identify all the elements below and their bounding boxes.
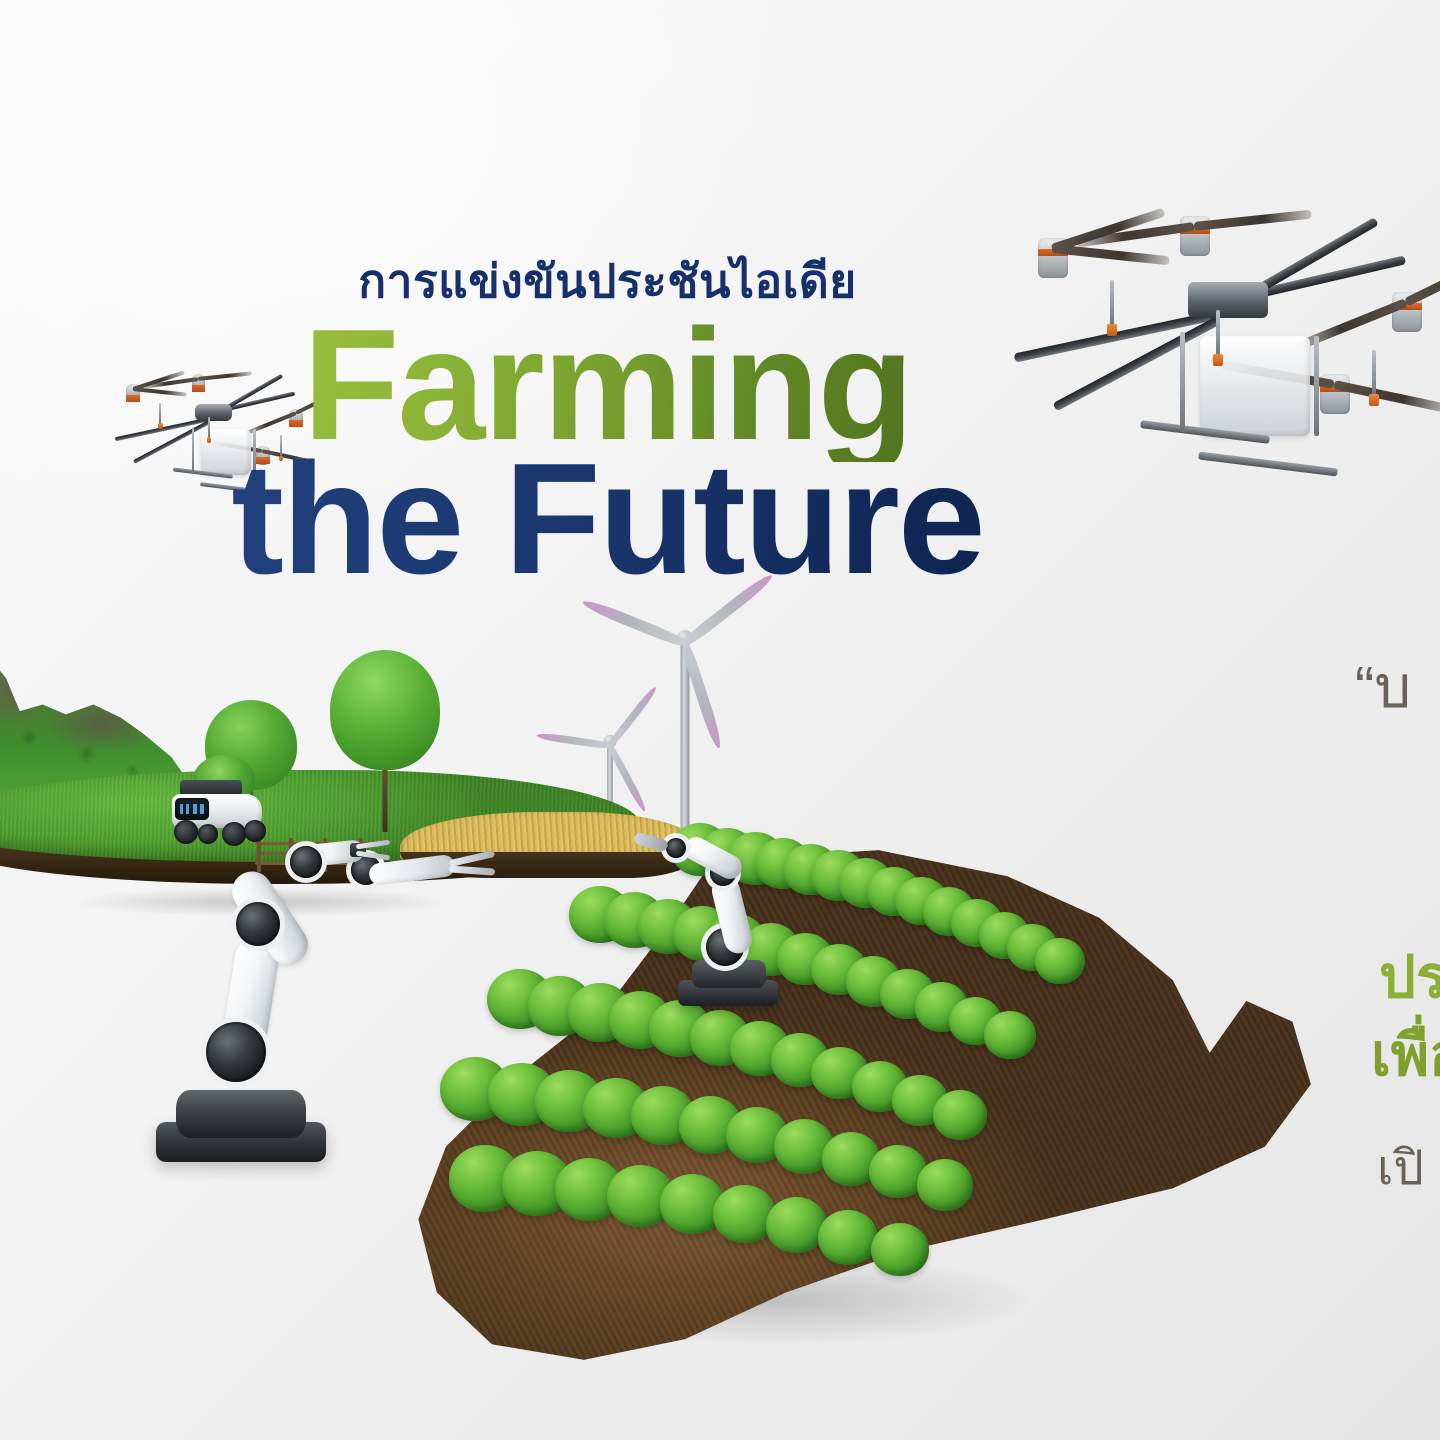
drone-skid	[1198, 451, 1338, 476]
drone-propeller	[1194, 210, 1312, 231]
crop-bush	[818, 1210, 878, 1265]
drone-nozzle-rod	[1216, 310, 1220, 356]
right-text-column: “บ ประ เพื่อ เปิ	[1355, 0, 1440, 1440]
crop-bush	[1035, 938, 1085, 984]
brown-detail-line: เปิ	[1377, 1130, 1424, 1206]
green-headline-line-2: เพื่อ	[1371, 1008, 1440, 1101]
headline-block: การแข่งขันประชันไอเดีย Farming the Futur…	[0, 255, 1215, 595]
rover-display	[175, 798, 209, 820]
quote-opening: “บ	[1355, 640, 1411, 733]
drone-strut	[1314, 336, 1319, 436]
crop-bush	[766, 1197, 828, 1254]
crop-bush	[984, 1011, 1036, 1059]
floating-crop-island	[400, 845, 1320, 1365]
crop-bush	[933, 1090, 987, 1140]
poster-canvas: การแข่งขันประชันไอเดีย Farming the Futur…	[0, 0, 1440, 1440]
title-line-2: the Future	[231, 444, 983, 596]
tree-large	[330, 650, 440, 832]
crop-bush	[917, 1159, 973, 1211]
crop-bush	[871, 1223, 929, 1276]
robot-gripper	[356, 840, 414, 862]
robot-arm-large	[150, 840, 410, 1170]
robot-arm-crop	[660, 840, 810, 1020]
scene-illustration	[0, 0, 1440, 1440]
